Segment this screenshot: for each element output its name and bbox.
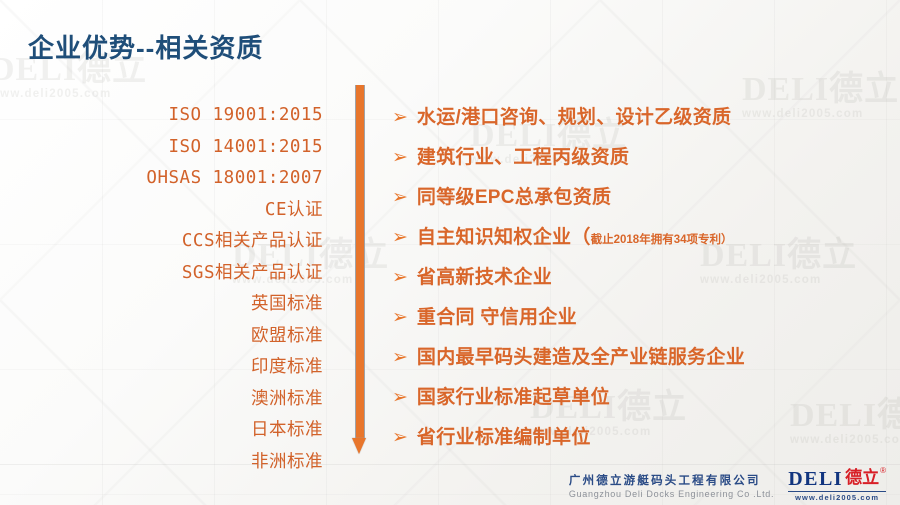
logo-text-latin: DELI [788, 469, 843, 489]
logo-wordmark: DELI 德立 ® [788, 469, 886, 489]
list-item: 日本标准 [60, 415, 323, 447]
list-item: ➢ 国内最早码头建造及全产业链服务企业 [392, 342, 892, 382]
list-item-label: 省行业标准编制单位 [417, 422, 591, 449]
certification-list: ISO 19001:2015 ISO 14001:2015 OHSAS 1800… [60, 100, 323, 478]
list-item: 印度标准 [60, 352, 323, 384]
company-name-en: Guangzhou Deli Docks Engineering Co .Ltd… [569, 489, 774, 499]
qualification-list: ➢ 水运/港口咨询、规划、设计乙级资质 ➢ 建筑行业、工程丙级资质 ➢ 同等级E… [392, 102, 892, 462]
registered-trademark-icon: ® [880, 467, 886, 475]
list-item: ➢ 建筑行业、工程丙级资质 [392, 142, 892, 182]
list-item: OHSAS 18001:2007 [60, 163, 323, 195]
divider-shaft [355, 85, 365, 440]
logo-text-cn: 德立 [845, 469, 879, 486]
deli-logo: DELI 德立 ® www.deli2005.com [788, 469, 886, 502]
list-item: ISO 14001:2015 [60, 132, 323, 164]
list-item-label: 水运/港口咨询、规划、设计乙级资质 [417, 102, 731, 129]
slide-canvas: DELI德立 www.deli2005.com DELI德立 www.deli2… [0, 0, 900, 505]
arrow-bullet-icon: ➢ [392, 148, 408, 167]
footer: 广州德立游艇码头工程有限公司 Guangzhou Deli Docks Engi… [0, 465, 900, 505]
arrow-bullet-icon: ➢ [392, 308, 408, 327]
list-item-label: 国家行业标准起草单位 [417, 382, 610, 409]
arrow-bullet-icon: ➢ [392, 388, 408, 407]
list-item: 欧盟标准 [60, 321, 323, 353]
list-item-note: 截止2018年拥有34项专利） [591, 231, 733, 247]
list-item: ➢ 省行业标准编制单位 [392, 422, 892, 462]
list-item-label: 自主知识知权企业（ [417, 222, 591, 249]
list-item: CCS相关产品认证 [60, 226, 323, 258]
list-item: 英国标准 [60, 289, 323, 321]
list-item: ➢ 自主知识知权企业（ 截止2018年拥有34项专利） [392, 222, 892, 262]
list-item: ISO 19001:2015 [60, 100, 323, 132]
list-item: ➢ 重合同 守信用企业 [392, 302, 892, 342]
arrow-bullet-icon: ➢ [392, 228, 408, 247]
divider-arrowhead [352, 438, 366, 454]
list-item-label: 重合同 守信用企业 [417, 302, 577, 329]
list-item: ➢ 同等级EPC总承包资质 [392, 182, 892, 222]
arrow-bullet-icon: ➢ [392, 268, 408, 287]
list-item: SGS相关产品认证 [60, 258, 323, 290]
list-item-label: 省高新技术企业 [417, 262, 552, 289]
page-title: 企业优势--相关资质 [28, 28, 263, 65]
arrow-bullet-icon: ➢ [392, 108, 408, 127]
logo-website: www.deli2005.com [788, 491, 886, 502]
list-item-label: 国内最早码头建造及全产业链服务企业 [417, 342, 745, 369]
list-item: 澳洲标准 [60, 384, 323, 416]
watermark-url: www.deli2005.com [0, 89, 147, 101]
company-name: 广州德立游艇码头工程有限公司 Guangzhou Deli Docks Engi… [569, 472, 774, 499]
arrow-bullet-icon: ➢ [392, 348, 408, 367]
company-name-cn: 广州德立游艇码头工程有限公司 [569, 472, 774, 488]
arrow-bullet-icon: ➢ [392, 428, 408, 447]
list-item: ➢ 水运/港口咨询、规划、设计乙级资质 [392, 102, 892, 142]
list-item-label: 建筑行业、工程丙级资质 [417, 142, 629, 169]
list-item-label: 同等级EPC总承包资质 [417, 182, 611, 209]
down-arrow-divider [352, 85, 366, 467]
arrow-bullet-icon: ➢ [392, 188, 408, 207]
list-item: ➢ 省高新技术企业 [392, 262, 892, 302]
list-item: ➢ 国家行业标准起草单位 [392, 382, 892, 422]
list-item: CE认证 [60, 195, 323, 227]
